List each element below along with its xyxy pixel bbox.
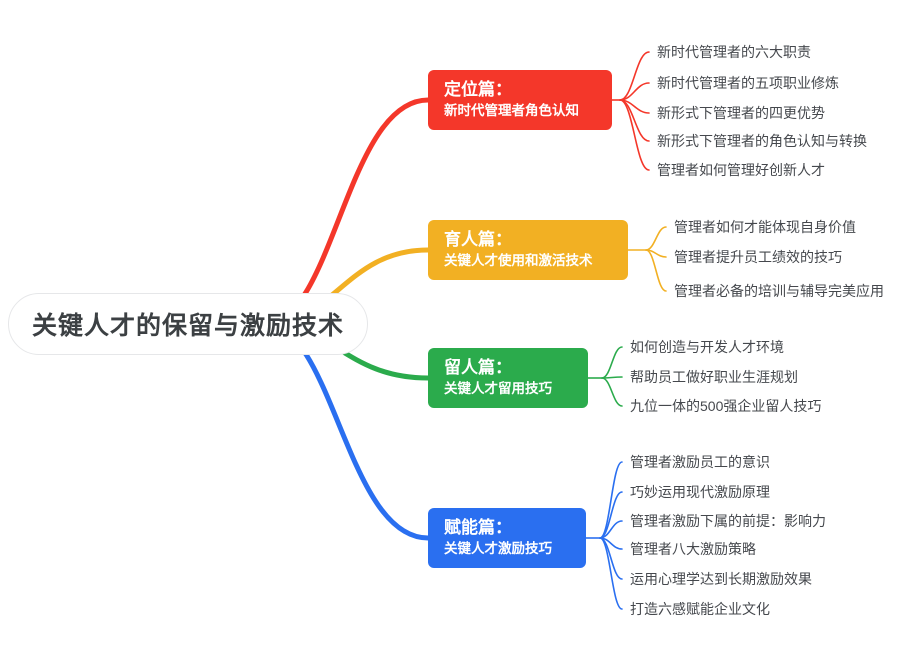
- leaf-node[interactable]: 如何创造与开发人才环境: [630, 340, 784, 354]
- leaf-node[interactable]: 巧妙运用现代激励原理: [630, 485, 770, 499]
- leaf-edge-1-4: [620, 100, 649, 141]
- branch-node-title: 定位篇：: [444, 79, 596, 100]
- leaf-node[interactable]: 新时代管理者的六大职责: [657, 45, 811, 59]
- branch-node-subtitle: 新时代管理者角色认知: [444, 102, 596, 120]
- leaf-edge-3-3: [602, 378, 622, 406]
- leaf-edge-1-5: [620, 100, 649, 170]
- leaf-edge-1-2: [620, 83, 649, 100]
- leaf-edge-2-1: [646, 227, 666, 250]
- leaf-node[interactable]: 新形式下管理者的四更优势: [657, 106, 825, 120]
- leaf-edge-3-2: [602, 377, 622, 378]
- branch-node-title: 育人篇：: [444, 229, 612, 250]
- leaf-node[interactable]: 管理者如何管理好创新人才: [657, 163, 825, 177]
- leaf-node[interactable]: 新形式下管理者的角色认知与转换: [657, 134, 867, 148]
- branch-node-3[interactable]: 留人篇：关键人才留用技巧: [428, 348, 588, 408]
- leaf-edge-1-1: [620, 52, 649, 100]
- leaf-edge-1-3: [620, 100, 649, 113]
- leaf-edge-3-1: [602, 347, 622, 378]
- branch-node-title: 留人篇：: [444, 357, 572, 378]
- leaf-node[interactable]: 管理者八大激励策略: [630, 542, 756, 556]
- leaf-edge-2-3: [646, 250, 666, 291]
- leaf-edge-2-2: [646, 250, 666, 257]
- branch-node-4[interactable]: 赋能篇：关键人才激励技巧: [428, 508, 586, 568]
- branch-node-subtitle: 关键人才使用和激活技术: [444, 252, 612, 270]
- leaf-edge-4-3: [600, 521, 622, 538]
- leaf-edge-4-6: [600, 538, 622, 609]
- leaf-node[interactable]: 管理者如何才能体现自身价值: [674, 220, 856, 234]
- branch-node-subtitle: 关键人才留用技巧: [444, 380, 572, 398]
- leaf-edge-4-5: [600, 538, 622, 579]
- leaf-edge-4-1: [600, 462, 622, 538]
- leaf-node[interactable]: 运用心理学达到长期激励效果: [630, 572, 812, 586]
- branch-node-subtitle: 关键人才激励技巧: [444, 540, 570, 558]
- mindmap-canvas: 关键人才的保留与激励技术 定位篇：新时代管理者角色认知育人篇：关键人才使用和激活…: [0, 0, 914, 646]
- leaf-node[interactable]: 管理者激励员工的意识: [630, 455, 770, 469]
- root-node[interactable]: 关键人才的保留与激励技术: [8, 293, 368, 355]
- trunk-edge-1: [265, 100, 428, 324]
- leaf-node[interactable]: 帮助员工做好职业生涯规划: [630, 370, 798, 384]
- leaf-node[interactable]: 打造六感赋能企业文化: [630, 602, 770, 616]
- leaf-node[interactable]: 管理者激励下属的前提：影响力: [630, 514, 826, 528]
- root-node-label: 关键人才的保留与激励技术: [32, 306, 344, 342]
- leaf-node[interactable]: 新时代管理者的五项职业修炼: [657, 76, 839, 90]
- trunk-edge-4: [265, 324, 428, 538]
- leaf-node[interactable]: 管理者必备的培训与辅导完美应用: [674, 284, 884, 298]
- leaf-edge-4-4: [600, 538, 622, 549]
- leaf-node[interactable]: 管理者提升员工绩效的技巧: [674, 250, 842, 264]
- leaf-edge-4-2: [600, 492, 622, 538]
- branch-node-1[interactable]: 定位篇：新时代管理者角色认知: [428, 70, 612, 130]
- branch-node-2[interactable]: 育人篇：关键人才使用和激活技术: [428, 220, 628, 280]
- leaf-node[interactable]: 九位一体的500强企业留人技巧: [630, 399, 821, 413]
- branch-node-title: 赋能篇：: [444, 517, 570, 538]
